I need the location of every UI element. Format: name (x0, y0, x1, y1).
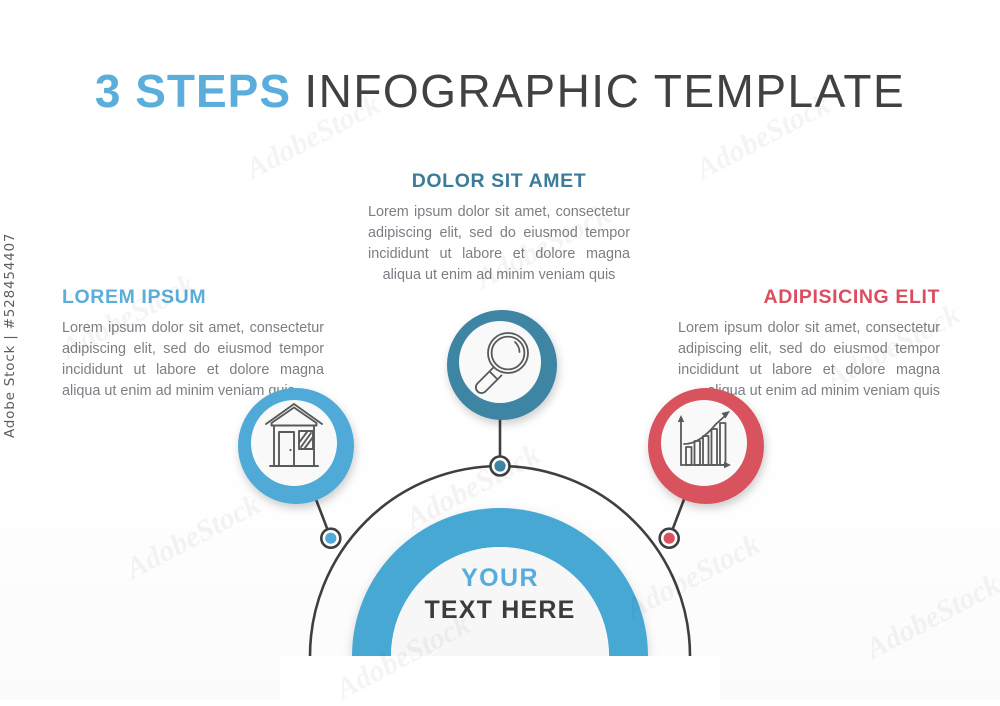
center-line-1: YOUR (380, 563, 620, 594)
center-line-2: TEXT HERE (380, 594, 620, 627)
center-text: YOUR TEXT HERE (380, 563, 620, 627)
infographic-canvas: 3 STEPS INFOGRAPHIC TEMPLATE LOREM IPSUM… (0, 0, 1000, 700)
node-dot-left[interactable] (321, 529, 340, 548)
tile-watermark: AdobeStock (121, 488, 266, 587)
stock-watermark-label: Adobe Stock | #528454407 (2, 233, 18, 438)
step-node-right[interactable] (648, 388, 764, 504)
title-accent: 3 STEPS (95, 65, 291, 117)
node-dot-right[interactable] (660, 529, 679, 548)
tile-watermark: AdobeStock (861, 568, 1000, 667)
step-node-middle[interactable] (447, 310, 557, 420)
tile-watermark: AdobeStock (621, 528, 766, 627)
step-heading-middle: DOLOR SIT AMET (368, 170, 630, 193)
page-title: 3 STEPS INFOGRAPHIC TEMPLATE (0, 64, 1000, 118)
step-heading-right: ADIPISICING ELIT (678, 286, 940, 309)
